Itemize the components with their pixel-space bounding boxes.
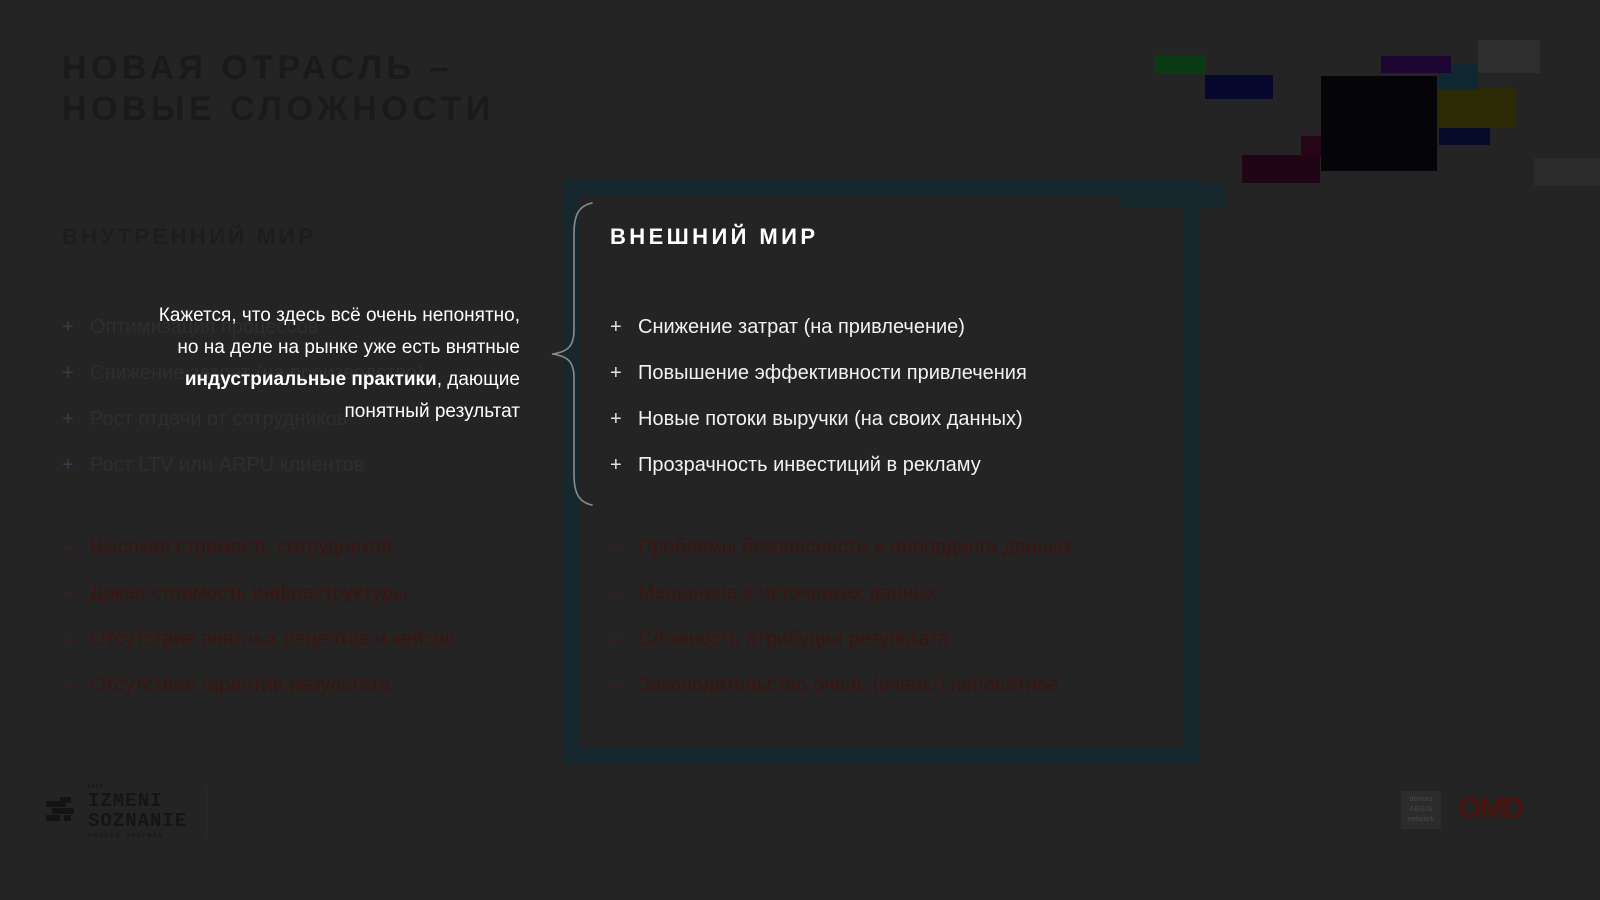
list-item: – Высокая стоимость сотрудников <box>62 534 542 560</box>
list-item: – Законодательство очень (очень!) непоня… <box>610 672 1170 698</box>
navy-block <box>1205 75 1273 99</box>
list-item: + Прозрачность инвестиций в рекламу <box>610 452 1170 478</box>
annotation-line-4: понятный результат <box>110 396 520 428</box>
internal-world-heading: ВНУТРЕННИЙ МИР <box>62 222 542 252</box>
list-item-label: Законодательство очень (очень!) непонятн… <box>638 672 1170 698</box>
minus-icon: – <box>62 626 90 652</box>
list-item: – Мешанина в источниках данных <box>610 580 1170 606</box>
lightgray-block-2 <box>1534 158 1600 186</box>
minus-icon: – <box>610 672 638 698</box>
dentsu-line-1: dentsu <box>1401 795 1441 805</box>
annotation-line-1: Кажется, что здесь всё очень непонятно, <box>110 300 520 332</box>
list-item: + Новые потоки выручки (на своих данных) <box>610 406 1170 432</box>
minus-icon: – <box>62 580 90 606</box>
list-item: – Отсутствие гарантии результата <box>62 672 542 698</box>
list-item-label: Высокая стоимость сотрудников <box>90 534 542 560</box>
list-item-label: Проблемы безопасности и онбординга данны… <box>638 534 1170 560</box>
plus-icon: + <box>610 314 638 340</box>
dentsu-line-2: AEGIS <box>1401 805 1441 815</box>
annotation-line-3-rest: , дающие <box>437 369 520 390</box>
izmeni-wordmark: 2013 IZMENI SOZNANIE nodrid.secreta <box>88 783 187 842</box>
list-item: – Сложность атрибуции результата <box>610 626 1170 652</box>
black-block <box>1321 76 1437 171</box>
list-item-label: Отсутствие гарантии результата <box>90 672 542 698</box>
violet-block <box>1381 56 1451 73</box>
external-world-heading: ВНЕШНИЙ МИР <box>610 222 1170 252</box>
plus-icon: + <box>62 314 90 340</box>
list-item-label: Дикая стоимость инфраструктуры <box>90 580 542 606</box>
list-item: – Дикая стоимость инфраструктуры <box>62 580 542 606</box>
plus-icon: + <box>62 406 90 432</box>
list-item-label: Повышение эффективности привлечения <box>638 360 1170 386</box>
lightgray-block <box>1478 40 1540 73</box>
list-item-label: Сложность атрибуции результата <box>638 626 1170 652</box>
slide-root: НОВАЯ ОТРАСЛЬ – НОВЫЕ СЛОЖНОСТИ ВНУТРЕНН… <box>0 0 1600 900</box>
list-item-label: Рост LTV или ARPU клиентов <box>90 452 542 478</box>
izmeni-mark-icon <box>46 797 80 823</box>
minus-icon: – <box>62 534 90 560</box>
izmeni-logo-sub: nodrid.secreta <box>88 831 187 842</box>
izmeni-logo-line2: SOZNANIE <box>88 811 187 831</box>
plus-icon: + <box>610 406 638 432</box>
minus-icon: – <box>610 626 638 652</box>
deepnavy-block <box>1439 128 1490 145</box>
dentsu-aegis-network-logo: dentsu AEGIS network <box>1401 791 1441 829</box>
annotation-callout: Кажется, что здесь всё очень непонятно, … <box>110 300 520 428</box>
list-item: – Проблемы безопасности и онбординга дан… <box>610 534 1170 560</box>
external-world-column: ВНЕШНИЙ МИР + Снижение затрат (на привле… <box>610 222 1170 718</box>
darkplum-block <box>1242 155 1320 183</box>
list-item: – Отсутствие внятных рецептов и кейсов <box>62 626 542 652</box>
list-item: + Рост LTV или ARPU клиентов <box>62 452 542 478</box>
green-block <box>1155 55 1205 74</box>
minus-icon: – <box>62 672 90 698</box>
list-item: + Повышение эффективности привлечения <box>610 360 1170 386</box>
list-item: + Снижение затрат (на привлечение) <box>610 314 1170 340</box>
plus-icon: + <box>610 360 638 386</box>
logo-divider <box>206 785 207 837</box>
izmeni-logo-line1: IZMENI <box>88 791 187 811</box>
minus-icon: – <box>610 580 638 606</box>
annotation-line-2: но на деле на рынке уже есть внятные <box>110 332 520 364</box>
izmeni-soznanie-logo: 2013 IZMENI SOZNANIE nodrid.secreta <box>46 783 216 841</box>
page-title: НОВАЯ ОТРАСЛЬ – НОВЫЕ СЛОЖНОСТИ <box>62 48 495 130</box>
plus-icon: + <box>62 452 90 478</box>
annotation-emphasis: индустриальные практики <box>185 369 437 390</box>
list-item-label: Снижение затрат (на привлечение) <box>638 314 1170 340</box>
list-item-label: Новые потоки выручки (на своих данных) <box>638 406 1170 432</box>
list-item-label: Мешанина в источниках данных <box>638 580 1170 606</box>
plus-icon: + <box>62 360 90 386</box>
external-positive-list: + Снижение затрат (на привлечение) + Пов… <box>610 314 1170 478</box>
minus-icon: – <box>610 534 638 560</box>
list-item-label: Отсутствие внятных рецептов и кейсов <box>90 626 542 652</box>
internal-negative-list: – Высокая стоимость сотрудников – Дикая … <box>62 534 542 698</box>
dentsu-line-3: network <box>1401 815 1441 825</box>
list-item-label: Прозрачность инвестиций в рекламу <box>638 452 1170 478</box>
internal-world-column: ВНУТРЕННИЙ МИР + Оптимизация процессов +… <box>62 222 542 718</box>
annotation-line-3: индустриальные практики, дающие <box>110 364 520 396</box>
external-negative-list: – Проблемы безопасности и онбординга дан… <box>610 534 1170 698</box>
curly-brace-icon <box>548 200 596 508</box>
plus-icon: + <box>610 452 638 478</box>
omd-logo: OMD <box>1458 792 1514 826</box>
